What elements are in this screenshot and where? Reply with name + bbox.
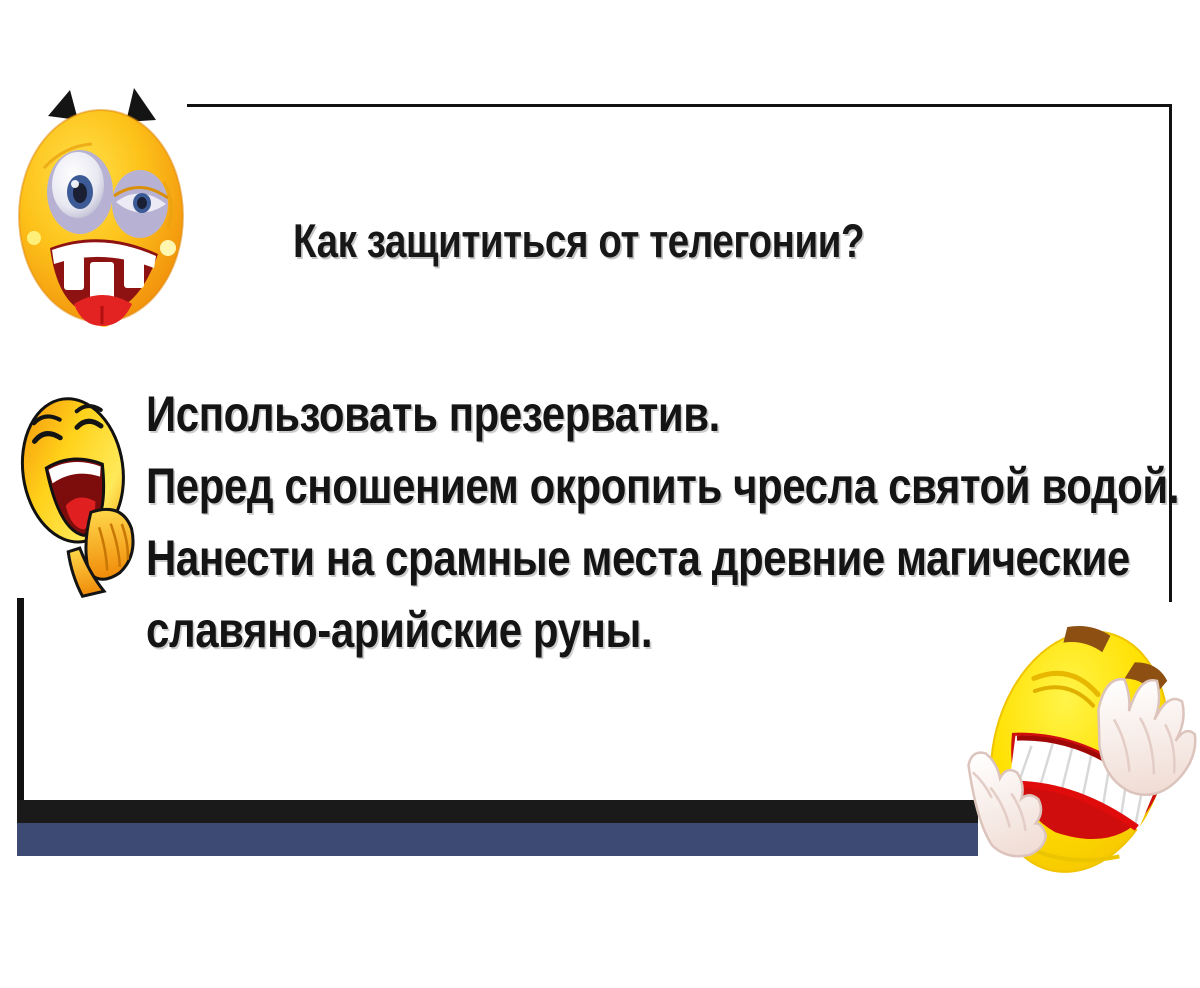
page-title: Как защититься от телегонии?	[293, 213, 864, 268]
slide-canvas: Как защититься от телегонии? Использоват…	[0, 0, 1200, 988]
frame-rule-top	[187, 104, 1172, 107]
footer-bar-black	[17, 800, 978, 823]
goofy-horned-smiley-emoji	[8, 72, 194, 334]
big-laughing-emoji	[962, 600, 1200, 900]
body-line: Перед сношением окропить чресла святой в…	[146, 450, 1028, 522]
body-line: Использовать презерватив.	[146, 378, 1028, 450]
footer-bar-blue	[17, 823, 978, 856]
body-line: Нанести на срамные места древние магичес…	[146, 522, 1028, 594]
body-line: славяно-арийские руны.	[146, 594, 1028, 666]
small-laughing-emoji	[14, 378, 138, 600]
frame-rule-left	[17, 598, 24, 824]
